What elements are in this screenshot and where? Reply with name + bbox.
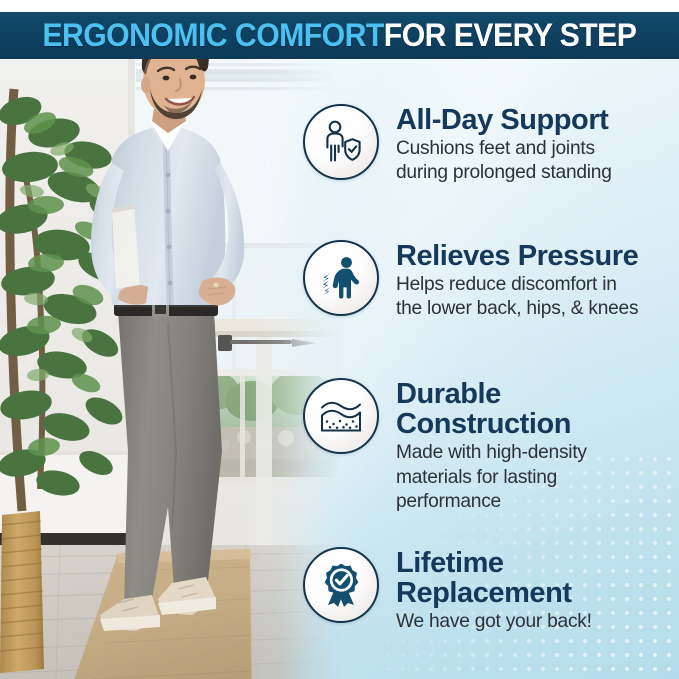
header-title-white: FOR EVERY STEP: [384, 17, 637, 53]
feature-description: Made with high-density materials for las…: [396, 441, 587, 514]
infographic-canvas: ERGONOMIC COMFORTFOR EVERY STEP All-Day …: [0, 0, 679, 679]
person-shield-icon: [303, 104, 379, 180]
header-banner: ERGONOMIC COMFORTFOR EVERY STEP: [0, 12, 679, 59]
feature-title: All-Day Support: [396, 105, 612, 135]
foam-layers-icon: [303, 378, 379, 454]
feature-title: Durable Construction: [396, 379, 587, 439]
feature-item-relieves-pressure: Relieves Pressure Helps reduce discomfor…: [303, 240, 638, 322]
back-pain-person-icon: [303, 240, 379, 316]
product-lifestyle-photo: [0, 59, 340, 679]
feature-item-durable-construction: Durable Construction Made with high-dens…: [303, 378, 587, 514]
award-badge-icon: [303, 547, 379, 623]
feature-title: Relieves Pressure: [396, 241, 638, 271]
feature-text-block: Durable Construction Made with high-dens…: [396, 378, 587, 514]
feature-description: Cushions feet and joints during prolonge…: [396, 137, 612, 185]
feature-text-block: All-Day Support Cushions feet and joints…: [396, 104, 612, 186]
feature-description: Helps reduce discomfort in the lower bac…: [396, 273, 638, 321]
header-title-accent: ERGONOMIC COMFORT: [43, 17, 384, 53]
feature-text-block: Relieves Pressure Helps reduce discomfor…: [396, 240, 638, 322]
feature-item-lifetime-replacement: Lifetime Replacement We have got your ba…: [303, 547, 592, 635]
feature-text-block: Lifetime Replacement We have got your ba…: [396, 547, 592, 635]
feature-item-all-day-support: All-Day Support Cushions feet and joints…: [303, 104, 612, 186]
header-top-strip: [0, 0, 679, 12]
page-title: ERGONOMIC COMFORTFOR EVERY STEP: [43, 19, 637, 52]
feature-title: Lifetime Replacement: [396, 548, 592, 608]
feature-description: We have got your back!: [396, 610, 592, 634]
